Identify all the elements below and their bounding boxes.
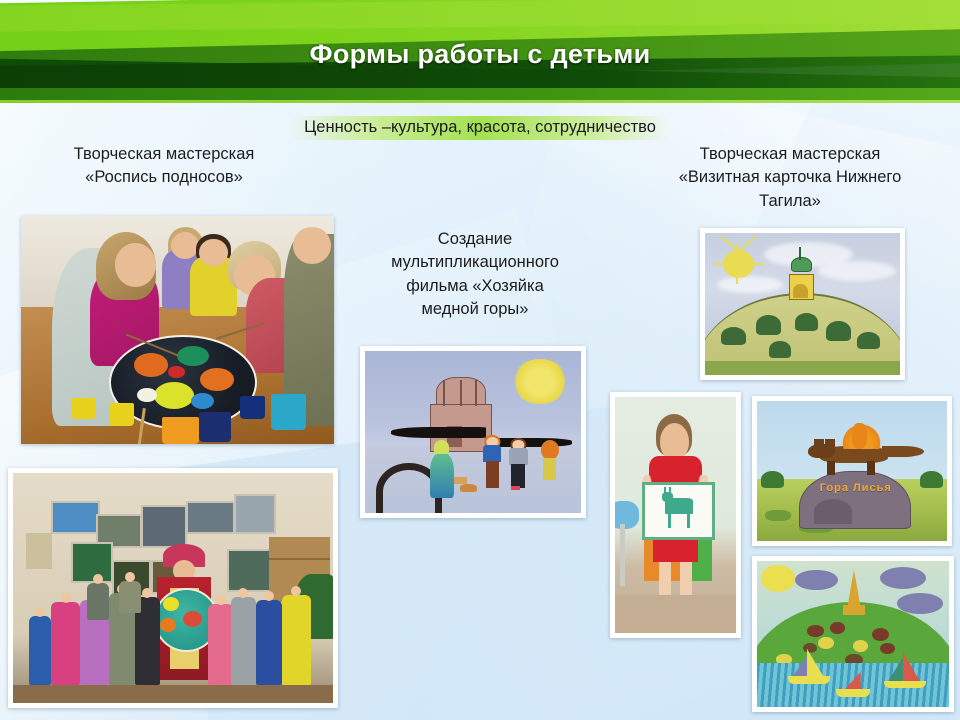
- caption-center-line-3: фильма «Хозяйка: [370, 275, 580, 298]
- photo-drawing-lisya-hill[interactable]: [700, 228, 905, 380]
- photo-drawing-cartoon-image: [365, 351, 581, 513]
- caption-right-line-1: Творческая мастерская: [640, 143, 940, 166]
- subtitle-banner: Ценность –культура, красота, сотрудничес…: [0, 116, 960, 140]
- caption-right-line-2: «Визитная карточка Нижнего: [640, 166, 940, 189]
- caption-left: Творческая мастерская «Роспись подносов»: [18, 143, 310, 190]
- caption-left-line-1: Творческая мастерская: [18, 143, 310, 166]
- photo-drawing-cartoon[interactable]: [360, 346, 586, 518]
- photo-tray-painting-image: [21, 216, 334, 444]
- banner-hairline: [0, 100, 960, 103]
- photo-drawing-fox-rock-image: Гора Лисья: [757, 401, 947, 541]
- slide: Формы работы с детьми Ценность –культура…: [0, 0, 960, 720]
- caption-right-line-3: Тагила»: [640, 190, 940, 213]
- caption-center-line-1: Создание: [370, 228, 580, 251]
- fox-rock-label: Гора Лисья: [805, 482, 908, 494]
- caption-center-line-4: медной горы»: [370, 298, 580, 321]
- photo-drawing-hill-boats-image: [757, 561, 949, 707]
- photo-drawing-fox-rock[interactable]: Гора Лисья: [752, 396, 952, 546]
- caption-center-line-2: мультипликационного: [370, 251, 580, 274]
- photo-girl-deer-image: [615, 397, 736, 633]
- caption-center: Создание мультипликационного фильма «Хоз…: [370, 228, 580, 322]
- caption-right: Творческая мастерская «Визитная карточка…: [640, 143, 940, 213]
- photo-group-kokoshnik[interactable]: [8, 468, 338, 708]
- caption-left-line-2: «Роспись подносов»: [18, 166, 310, 189]
- photo-drawing-hill-boats[interactable]: [752, 556, 954, 712]
- photo-girl-deer[interactable]: [610, 392, 741, 638]
- subtitle-text: Ценность –культура, красота, сотрудничес…: [290, 116, 670, 140]
- page-title: Формы работы с детьми: [0, 39, 960, 70]
- photo-group-kokoshnik-image: [13, 473, 333, 703]
- photo-drawing-lisya-hill-image: [705, 233, 900, 375]
- photo-tray-painting[interactable]: [21, 216, 334, 444]
